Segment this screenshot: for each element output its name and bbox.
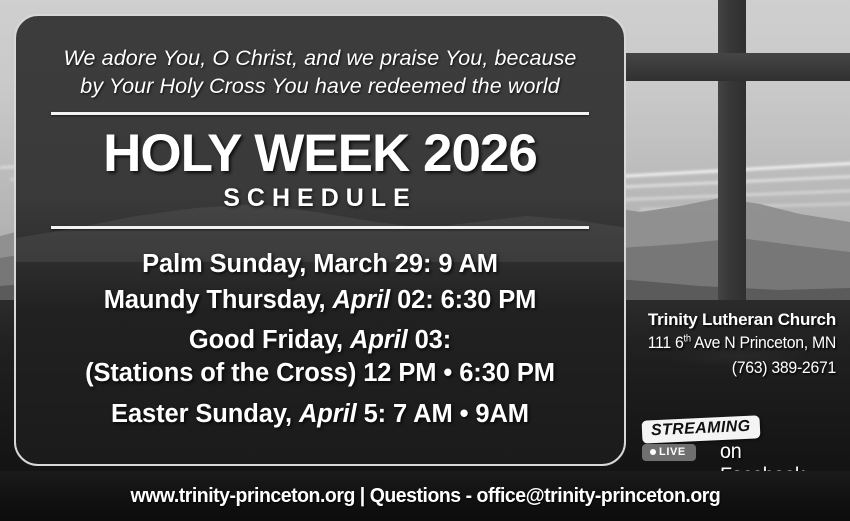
- service-month: April: [299, 400, 357, 428]
- service-text: Easter Sunday,: [111, 400, 299, 428]
- divider-top: [51, 112, 589, 115]
- schedule-item-palm-sunday: Palm Sunday, March 29: 9 AM: [42, 246, 598, 282]
- address-ordinal: th: [684, 333, 691, 344]
- schedule-item-good-friday-stations: (Stations of the Cross) 12 PM • 6:30 PM: [42, 357, 598, 390]
- page-subtitle: SCHEDULE: [42, 184, 598, 212]
- holy-week-poster: We adore You, O Christ, and we praise Yo…: [0, 0, 850, 521]
- address-number: 111 6: [648, 333, 684, 352]
- schedule-item-good-friday: Good Friday, April 03:: [42, 324, 598, 357]
- service-month: April: [332, 286, 390, 314]
- service-text: (Stations of the Cross) 12 PM • 6:30 PM: [85, 359, 555, 387]
- service-detail: 02: 6:30 PM: [390, 286, 536, 314]
- schedule-item-maundy-thursday: Maundy Thursday, April 02: 6:30 PM: [42, 282, 598, 318]
- service-text: Palm Sunday, March 29: 9 AM: [142, 250, 498, 278]
- adoration-quote: We adore You, O Christ, and we praise Yo…: [42, 30, 598, 100]
- service-text: Good Friday,: [189, 326, 350, 354]
- streaming-badge: STREAMING LIVE on Facebook: [636, 418, 836, 468]
- service-month: April: [350, 326, 408, 354]
- footer-bar: www.trinity-princeton.org | Questions - …: [0, 471, 850, 521]
- schedule-item-easter-sunday: Easter Sunday, April 5: 7 AM • 9AM: [42, 396, 598, 432]
- cross-vertical-beam: [718, 0, 746, 330]
- info-panel: We adore You, O Christ, and we praise Yo…: [14, 14, 626, 466]
- church-info: Trinity Lutheran Church 111 6th Ave N Pr…: [626, 310, 836, 378]
- address-rest: Ave N Princeton, MN: [691, 333, 836, 352]
- church-phone: (763) 389-2671: [641, 358, 836, 378]
- service-detail: 5: 7 AM • 9AM: [357, 400, 529, 428]
- church-name: Trinity Lutheran Church: [626, 310, 836, 330]
- live-label: LIVE: [659, 446, 686, 458]
- service-text: Maundy Thursday,: [104, 286, 333, 314]
- service-detail: 03:: [408, 326, 452, 354]
- footer-contact-text: www.trinity-princeton.org | Questions - …: [130, 484, 720, 508]
- cross-horizontal-beam: [625, 53, 850, 81]
- live-badge: LIVE: [642, 444, 696, 461]
- divider-bottom: [51, 226, 589, 229]
- quote-line-2: by Your Holy Cross You have redeemed the…: [50, 72, 590, 100]
- page-title: HOLY WEEK 2026: [42, 125, 598, 183]
- quote-line-1: We adore You, O Christ, and we praise Yo…: [50, 44, 590, 72]
- church-address: 111 6th Ave N Princeton, MN: [641, 333, 836, 353]
- live-dot-icon: [650, 449, 656, 455]
- schedule-list: Palm Sunday, March 29: 9 AM Maundy Thurs…: [42, 246, 598, 432]
- panel-content: We adore You, O Christ, and we praise Yo…: [16, 16, 624, 464]
